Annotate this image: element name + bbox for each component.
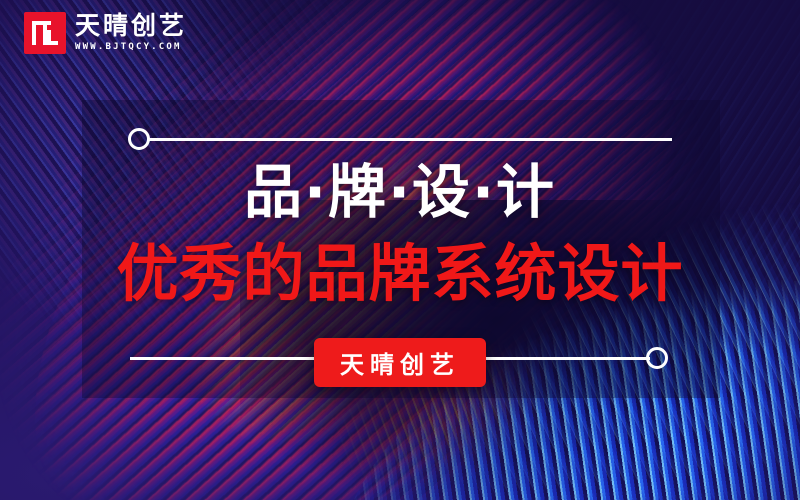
banner-canvas: 天晴创艺 WWW.BJTQCY.COM 品·牌·设·计 优秀的品牌系统设计 天晴… — [0, 0, 800, 500]
top-divider-line — [148, 138, 672, 141]
brand-logo[interactable]: 天晴创艺 WWW.BJTQCY.COM — [24, 12, 187, 54]
headline-secondary: 优秀的品牌系统设计 — [0, 243, 800, 305]
bottom-circle-marker — [646, 347, 668, 369]
logo-stroke-hook — [47, 30, 58, 45]
brand-name: 天晴创艺 — [75, 13, 187, 39]
logo-mark-icon — [24, 12, 66, 54]
brand-logo-text: 天晴创艺 WWW.BJTQCY.COM — [75, 13, 187, 52]
logo-stroke-top — [32, 21, 51, 25]
top-circle-marker — [128, 128, 150, 150]
headline-primary: 品·牌·设·计 — [0, 163, 800, 221]
brand-badge: 天晴创艺 — [314, 338, 486, 387]
brand-website: WWW.BJTQCY.COM — [75, 42, 187, 53]
